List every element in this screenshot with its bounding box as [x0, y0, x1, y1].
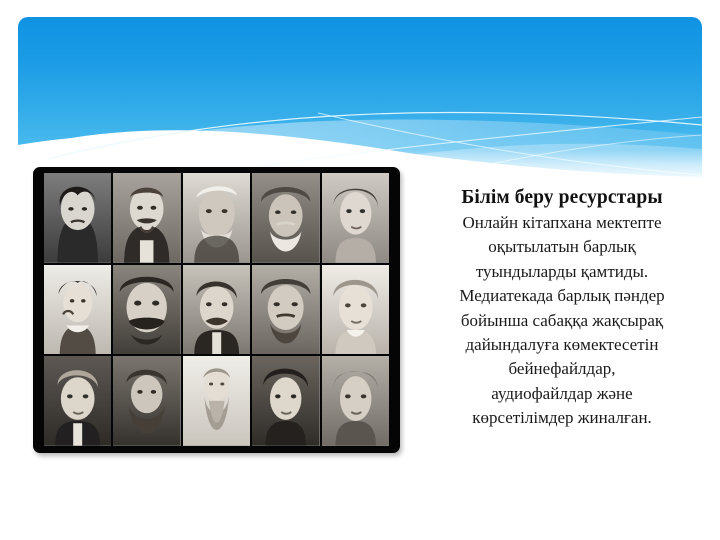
- body-paragraph: Онлайн кітапхана мектептеоқытылатын барл…: [416, 211, 708, 431]
- body-line-6: дайындалуға көмектесетін: [416, 333, 708, 357]
- header-banner: [18, 17, 702, 179]
- portrait-r2c2: [113, 265, 180, 355]
- portrait-r1c4: [252, 173, 319, 263]
- body-line-2: оқытылатын барлық: [416, 235, 708, 259]
- portrait-r2c1: [44, 265, 111, 355]
- portrait-r3c4: [252, 356, 319, 446]
- portrait-r3c3: [183, 356, 250, 446]
- page-title: Білім беру ресурстары: [416, 186, 708, 209]
- portrait-r3c1: [44, 356, 111, 446]
- body-line-4: Медиатекада барлық пәндер: [416, 284, 708, 308]
- body-line-5: бойынша сабаққа жақсырақ: [416, 309, 708, 333]
- body-line-7: бейнефайлдар,: [416, 357, 708, 381]
- portrait-r1c3: [183, 173, 250, 263]
- portrait-collage-image: [33, 167, 400, 453]
- text-block: Білім беру ресурстары Онлайн кітапхана м…: [416, 186, 708, 431]
- body-line-9: көрсетілімдер жиналған.: [416, 406, 708, 430]
- banner-decoration-graphic: [18, 17, 702, 179]
- slide-canvas: Білім беру ресурстары Онлайн кітапхана м…: [0, 0, 720, 540]
- portrait-r1c1: [44, 173, 111, 263]
- portrait-r2c5: [322, 265, 389, 355]
- portrait-r3c2: [113, 356, 180, 446]
- body-line-1: Онлайн кітапхана мектепте: [416, 211, 708, 235]
- body-line-3: туындыларды қамтиды.: [416, 260, 708, 284]
- body-line-8: аудиофайлдар және: [416, 382, 708, 406]
- portrait-r2c4: [252, 265, 319, 355]
- portrait-r1c5: [322, 173, 389, 263]
- portrait-r1c2: [113, 173, 180, 263]
- portrait-grid: [44, 173, 389, 446]
- portrait-r3c5: [322, 356, 389, 446]
- portrait-r2c3: [183, 265, 250, 355]
